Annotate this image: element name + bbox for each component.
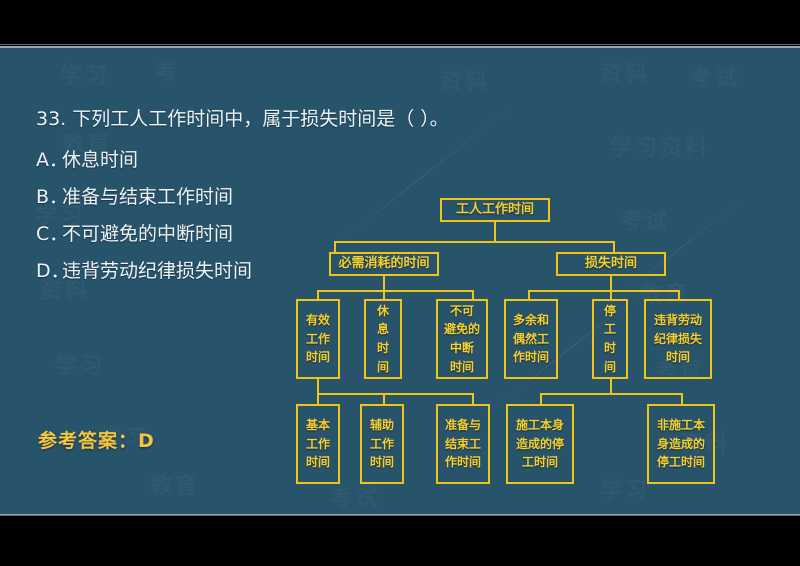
slide-content: 学习 考 资料 考试 教育 学习资料 学习 考试 资料 教育 学习 考试 学习 …: [0, 48, 800, 514]
node-shutdown-time-label: 停 工 时 间: [604, 302, 616, 376]
node-rest-time: 休 息 时 间: [364, 299, 402, 379]
question-stem: 33. 下列工人工作时间中，属于损失时间是（ ）。: [36, 110, 336, 129]
watermark-text: 资料: [440, 64, 490, 96]
top-divider-faint: [0, 44, 800, 45]
node-non-construction-caused-shutdown-time-label: 非施工本 身造成的 停工时间: [657, 416, 705, 472]
question-block: 33. 下列工人工作时间中，属于损失时间是（ ）。 A．休息时间 B．准备与结束…: [36, 110, 336, 299]
option-c-letter: C．: [36, 225, 62, 244]
bottom-divider-faint: [0, 515, 800, 516]
node-discipline-violation-loss-time: 违背劳动 纪律损失 时间: [644, 299, 712, 379]
connector-left-l4-bus: [317, 393, 473, 395]
option-d[interactable]: D．违背劳动纪律损失时间: [36, 262, 336, 281]
option-b[interactable]: B．准备与结束工作时间: [36, 188, 336, 207]
connector-left-l4-drop-1: [317, 393, 319, 404]
node-unavoidable-interruption-time-label: 不可 避免的 中断 时间: [444, 302, 480, 376]
node-necessary-time: 必需消耗的时间: [329, 252, 439, 276]
connector-left-l3-drop-2: [383, 290, 385, 299]
option-c-text: 不可避免的中断时间: [62, 223, 233, 245]
node-construction-caused-shutdown-time: 施工本身 造成的停 工时间: [506, 404, 574, 484]
node-basic-work-time-label: 基本 工作 时间: [306, 416, 330, 472]
watermark-text: 学习: [60, 58, 110, 90]
node-construction-caused-shutdown-time-label: 施工本身 造成的停 工时间: [516, 416, 564, 472]
node-effective-work-time: 有效 工作 时间: [296, 299, 340, 379]
option-a-text: 休息时间: [62, 149, 138, 171]
watermark-text: 学习: [55, 348, 105, 380]
option-d-letter: D．: [36, 262, 62, 281]
node-effective-work-time-label: 有效 工作 时间: [306, 311, 330, 367]
node-auxiliary-work-time-label: 辅助 工作 时间: [370, 416, 394, 472]
connector-left-l3-drop-3: [472, 290, 474, 299]
watermark-text: 考: [155, 54, 180, 86]
option-a-letter: A．: [36, 151, 62, 170]
option-d-text: 违背劳动纪律损失时间: [62, 260, 252, 282]
node-rest-time-label: 休 息 时 间: [377, 302, 389, 376]
connector-right-l4-stem: [610, 379, 612, 393]
connector-right-l3-drop-1: [528, 290, 530, 299]
watermark-text: 考试: [690, 60, 740, 92]
option-b-letter: B．: [36, 188, 62, 207]
connector-level2-right-drop: [613, 241, 615, 252]
connector-left-l2-stem: [383, 276, 385, 290]
connector-root-stem: [494, 222, 496, 241]
option-b-text: 准备与结束工作时间: [62, 186, 233, 208]
node-unavoidable-interruption-time: 不可 避免的 中断 时间: [436, 299, 488, 379]
watermark-text: 教育: [150, 468, 200, 500]
node-loss-time: 损失时间: [556, 252, 666, 276]
option-a[interactable]: A．休息时间: [36, 151, 336, 170]
worker-time-tree-diagram: 工人工作时间 必需消耗的时间 损失时间 有效 工作 时间 休 息 时 间: [288, 143, 788, 513]
connector-right-l4-bus: [540, 393, 682, 395]
node-non-construction-caused-shutdown-time: 非施工本 身造成的 停工时间: [647, 404, 715, 484]
node-root: 工人工作时间: [440, 198, 550, 222]
slide-screen: 学习 考 资料 考试 教育 学习资料 学习 考试 资料 教育 学习 考试 学习 …: [0, 0, 800, 566]
node-auxiliary-work-time: 辅助 工作 时间: [360, 404, 404, 484]
node-basic-work-time: 基本 工作 时间: [296, 404, 340, 484]
connector-left-l4-stem: [317, 379, 319, 393]
connector-right-l4-drop-1: [540, 393, 542, 404]
connector-left-l3-bus: [317, 290, 473, 292]
option-c[interactable]: C．不可避免的中断时间: [36, 225, 336, 244]
connector-right-l4-drop-2: [681, 393, 683, 404]
node-discipline-violation-loss-time-label: 违背劳动 纪律损失 时间: [654, 311, 702, 367]
connector-right-l3-drop-2: [610, 290, 612, 299]
node-prep-finish-work-time-label: 准备与 结束工 作时间: [445, 416, 481, 472]
connector-right-l3-bus: [528, 290, 680, 292]
connector-left-l4-drop-2: [383, 393, 385, 404]
node-prep-finish-work-time: 准备与 结束工 作时间: [436, 404, 490, 484]
connector-level2-bus: [334, 241, 614, 243]
node-shutdown-time: 停 工 时 间: [592, 299, 628, 379]
reference-answer: 参考答案：D: [38, 426, 155, 453]
watermark-text: 资料: [600, 56, 650, 88]
connector-left-l4-drop-3: [472, 393, 474, 404]
connector-right-l2-stem: [610, 276, 612, 290]
connector-right-l3-drop-3: [678, 290, 680, 299]
node-surplus-accidental-work-time: 多余和 偶然工 作时间: [504, 299, 558, 379]
node-surplus-accidental-work-time-label: 多余和 偶然工 作时间: [513, 311, 549, 367]
